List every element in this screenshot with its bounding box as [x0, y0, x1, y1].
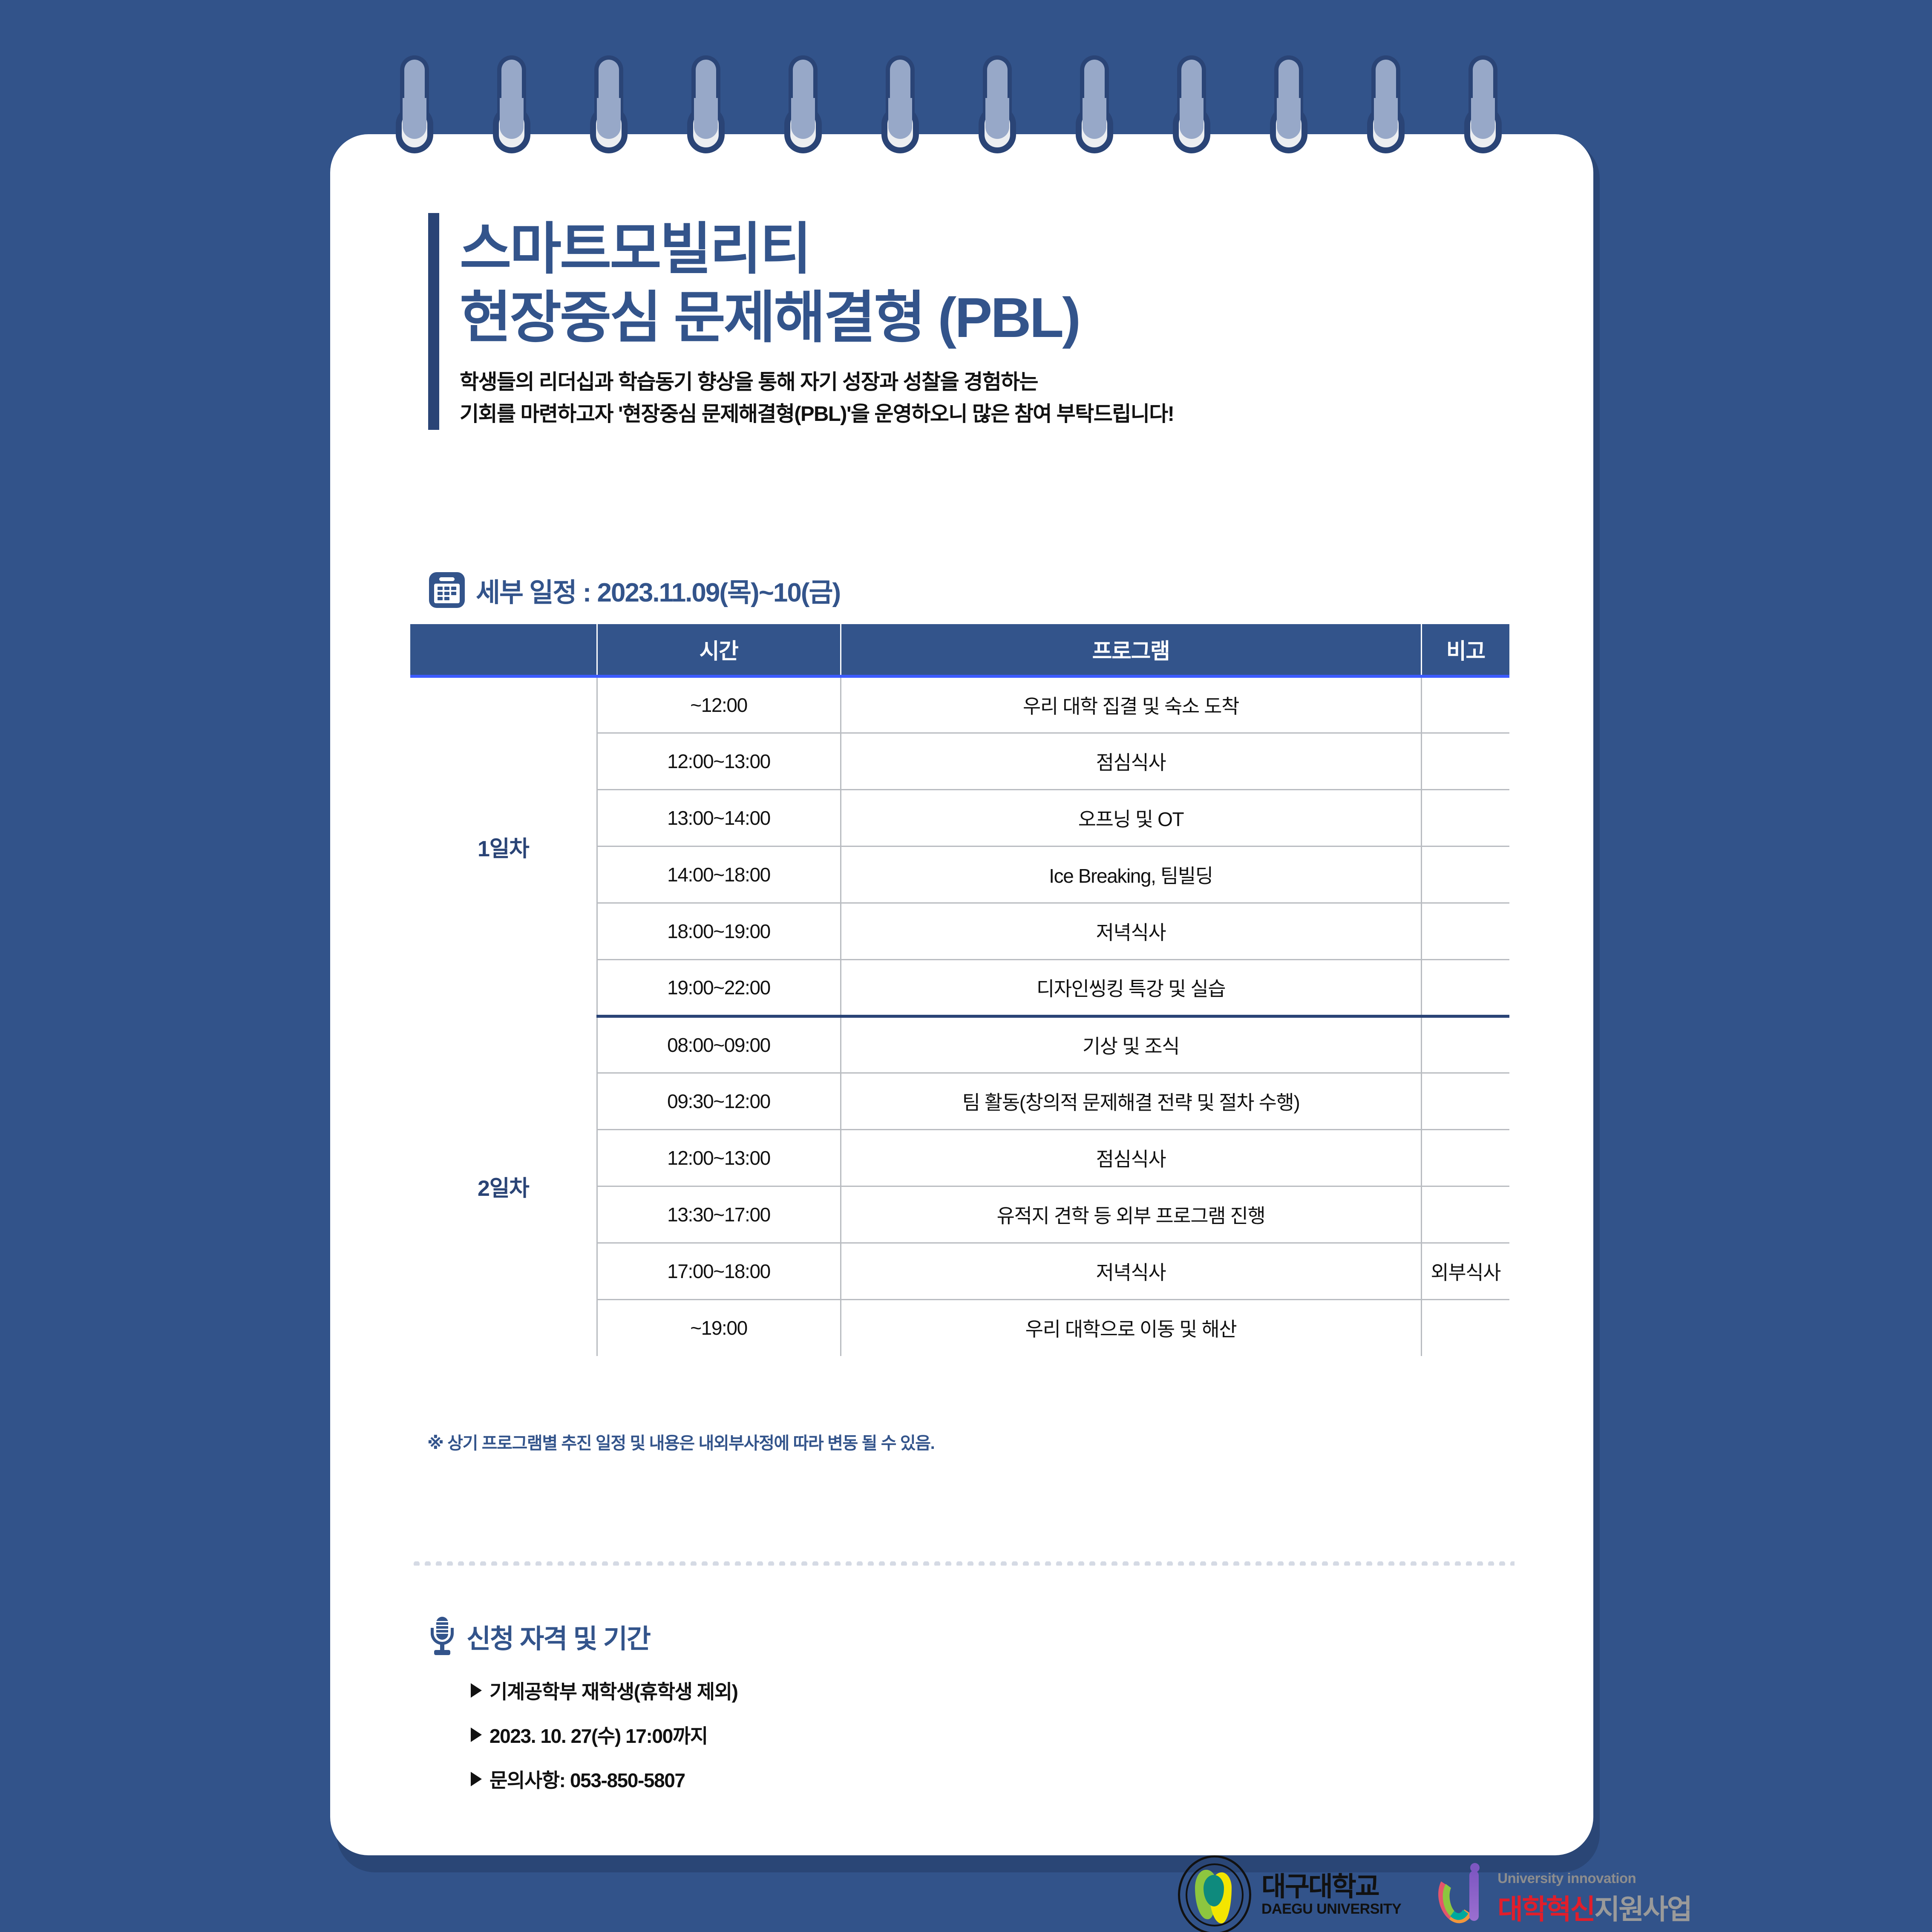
- column-header-note: 비고: [1421, 624, 1509, 676]
- list-item-label: 문의사항: 053-850-5807: [489, 1765, 685, 1793]
- cell-prog: 우리 대학으로 이동 및 해산: [841, 1299, 1421, 1356]
- cell-time: ~19:00: [597, 1299, 841, 1356]
- column-header-day: [410, 624, 597, 676]
- cell-prog: 점심식사: [841, 1129, 1421, 1186]
- cell-prog: 오프닝 및 OT: [841, 789, 1421, 846]
- list-item: 2023. 10. 27(수) 17:00까지: [471, 1721, 738, 1749]
- university-innovation-logo: University innovation 대학혁신 지원사업: [1438, 1863, 1691, 1927]
- subtitle-line-2: 기회를 마련하고자 '현장중심 문제해결형(PBL)'을 운영하오니 많은 참여…: [460, 398, 1174, 430]
- cell-prog: 디자인씽킹 특강 및 실습: [841, 959, 1421, 1016]
- cell-time: 13:00~14:00: [597, 789, 841, 846]
- cell-time: 12:00~13:00: [597, 1129, 841, 1186]
- poster-canvas: 스마트모빌리티 현장중심 문제해결형 (PBL) 학생들의 리더십과 학습동기 …: [0, 0, 1932, 1932]
- column-header-program: 프로그램: [841, 624, 1421, 676]
- apply-heading-label: 신청 자격 및 기간: [466, 1617, 650, 1656]
- subtitle-line-1: 학생들의 리더십과 학습동기 향상을 통해 자기 성장과 성찰을 경험하는: [460, 366, 1174, 398]
- cell-note: [1421, 1016, 1509, 1073]
- cell-time: 08:00~09:00: [597, 1016, 841, 1073]
- cell-time: 17:00~18:00: [597, 1243, 841, 1299]
- column-header-time: 시간: [597, 624, 841, 676]
- list-item-label: 2023. 10. 27(수) 17:00까지: [489, 1721, 708, 1749]
- program-name-gray: 지원사업: [1594, 1887, 1691, 1927]
- table-header-row: 시간 프로그램 비고: [410, 624, 1509, 676]
- program-name-red: 대학혁신: [1497, 1887, 1594, 1927]
- cell-note: [1421, 1186, 1509, 1243]
- cell-note: [1421, 903, 1509, 959]
- cell-prog: 유적지 견학 등 외부 프로그램 진행: [841, 1186, 1421, 1243]
- bullet-triangle-icon: [471, 1683, 482, 1698]
- daegu-university-seal-icon: [1178, 1855, 1251, 1932]
- cell-note: [1421, 1129, 1509, 1186]
- cell-note: [1421, 846, 1509, 903]
- poster-content: 스마트모빌리티 현장중심 문제해결형 (PBL) 학생들의 리더십과 학습동기 …: [330, 134, 1593, 1855]
- cell-time: ~12:00: [597, 676, 841, 733]
- cell-prog: 기상 및 조식: [841, 1016, 1421, 1073]
- calendar-icon: [429, 572, 465, 608]
- bullet-triangle-icon: [471, 1728, 482, 1742]
- apply-heading: 신청 자격 및 기간: [429, 1617, 650, 1656]
- list-item: 문의사항: 053-850-5807: [471, 1765, 738, 1793]
- day-label-cell: 1일차: [410, 676, 597, 1016]
- daegu-university-logo: 대구대학교 DAEGU UNIVERSITY: [1178, 1855, 1401, 1932]
- cell-prog: 저녁식사: [841, 1243, 1421, 1299]
- cell-note: [1421, 676, 1509, 733]
- page-subtitle: 학생들의 리더십과 학습동기 향상을 통해 자기 성장과 성찰을 경험하는 기회…: [460, 366, 1174, 430]
- cell-time: 18:00~19:00: [597, 903, 841, 959]
- schedule-table-head: 시간 프로그램 비고: [410, 624, 1509, 676]
- cell-note: [1421, 733, 1509, 789]
- list-item-label: 기계공학부 재학생(휴학생 제외): [489, 1676, 738, 1705]
- title-accent-bar: [428, 213, 439, 430]
- cell-note: [1421, 789, 1509, 846]
- bullet-triangle-icon: [471, 1772, 482, 1786]
- cell-time: 09:30~12:00: [597, 1073, 841, 1129]
- cell-prog: 저녁식사: [841, 903, 1421, 959]
- cell-time: 12:00~13:00: [597, 733, 841, 789]
- schedule-heading: 세부 일정 : 2023.11.09(목)~10(금): [429, 571, 840, 609]
- title-block: 스마트모빌리티 현장중심 문제해결형 (PBL) 학생들의 리더십과 학습동기 …: [428, 213, 1174, 430]
- cell-time: 19:00~22:00: [597, 959, 841, 1016]
- cell-note: 외부식사: [1421, 1243, 1509, 1299]
- list-item: 기계공학부 재학생(휴학생 제외): [471, 1676, 738, 1705]
- dotted-divider: [411, 1561, 1515, 1566]
- logo-row: 대구대학교 DAEGU UNIVERSITY University innova…: [1178, 1855, 1691, 1932]
- cell-prog: 팀 활동(창의적 문제해결 전략 및 절차 수행): [841, 1073, 1421, 1129]
- page-title-line2: 현장중심 문제해결형 (PBL): [460, 283, 1174, 352]
- cell-time: 13:30~17:00: [597, 1186, 841, 1243]
- day-label-cell: 2일차: [410, 1016, 597, 1356]
- apply-info-list: 기계공학부 재학생(휴학생 제외)2023. 10. 27(수) 17:00까지…: [471, 1676, 738, 1809]
- cell-prog: 점심식사: [841, 733, 1421, 789]
- schedule-footnote: ※ 상기 프로그램별 추진 일정 및 내용은 내외부사정에 따라 변동 될 수 …: [427, 1429, 934, 1454]
- table-row: 2일차08:00~09:00기상 및 조식: [410, 1016, 1509, 1073]
- university-name-en: DAEGU UNIVERSITY: [1261, 1901, 1401, 1917]
- cell-note: [1421, 1073, 1509, 1129]
- university-name-ko: 대구대학교: [1261, 1872, 1379, 1902]
- table-row: 1일차~12:00우리 대학 집결 및 숙소 도착: [410, 676, 1509, 733]
- cell-note: [1421, 959, 1509, 1016]
- page-title-line1: 스마트모빌리티: [460, 215, 1174, 283]
- cell-prog: Ice Breaking, 팀빌딩: [841, 846, 1421, 903]
- cell-prog: 우리 대학 집결 및 숙소 도착: [841, 676, 1421, 733]
- schedule-table: 시간 프로그램 비고 1일차~12:00우리 대학 집결 및 숙소 도착12:0…: [410, 624, 1509, 1356]
- cell-time: 14:00~18:00: [597, 846, 841, 903]
- program-tagline-en: University innovation: [1497, 1870, 1636, 1886]
- schedule-heading-label: 세부 일정 : 2023.11.09(목)~10(금): [476, 571, 840, 609]
- ui-mark-icon: [1438, 1863, 1491, 1927]
- cell-note: [1421, 1299, 1509, 1356]
- microphone-icon: [429, 1617, 455, 1656]
- schedule-table-body: 1일차~12:00우리 대학 집결 및 숙소 도착12:00~13:00점심식사…: [410, 676, 1509, 1356]
